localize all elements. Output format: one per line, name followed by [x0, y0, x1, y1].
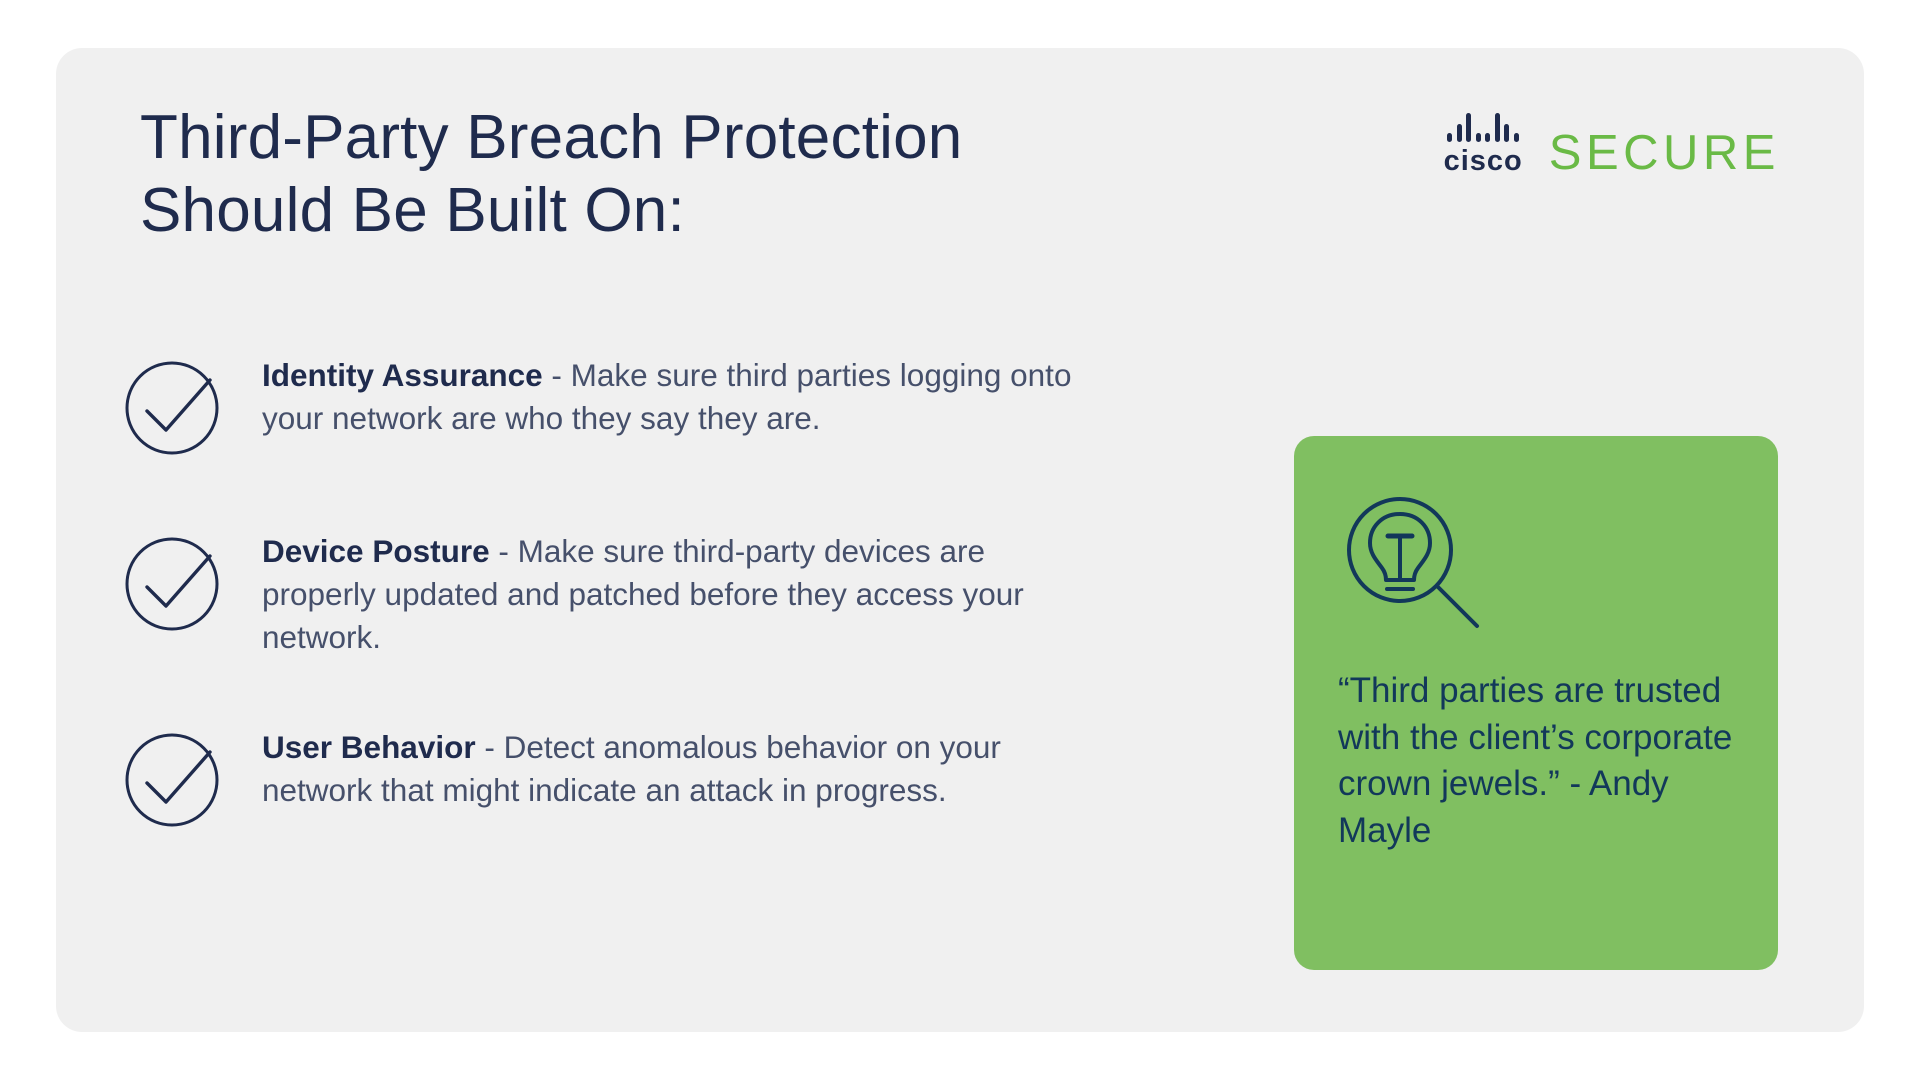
check-circle-icon: [116, 722, 228, 834]
cisco-wordmark: cisco: [1444, 147, 1523, 176]
list-item-separator: -: [490, 533, 518, 569]
list-item: Device Posture - Make sure third-party d…: [116, 516, 1076, 658]
list-item-separator: -: [476, 729, 504, 765]
list-item-lead: User Behavior: [262, 729, 476, 765]
check-circle-icon: [116, 350, 228, 462]
check-circle-icon: [116, 526, 228, 638]
secure-wordmark: SECURE: [1549, 129, 1780, 178]
quote-text: “Third parties are trusted with the clie…: [1338, 668, 1734, 854]
brand-lockup: cisco SECURE: [1444, 112, 1780, 176]
cisco-logo: cisco: [1444, 112, 1523, 176]
list-item-lead: Identity Assurance: [262, 357, 543, 393]
header: Third-Party Breach Protection Should Be …: [56, 48, 1864, 308]
list-item-text: Device Posture - Make sure third-party d…: [262, 516, 1076, 658]
checklist: Identity Assurance - Make sure third par…: [116, 340, 1076, 834]
list-item: Identity Assurance - Make sure third par…: [116, 340, 1076, 462]
list-item-text: User Behavior - Detect anomalous behavio…: [262, 712, 1076, 812]
page-title: Third-Party Breach Protection Should Be …: [140, 102, 1190, 247]
list-item-text: Identity Assurance - Make sure third par…: [262, 340, 1076, 440]
infographic-canvas: Third-Party Breach Protection Should Be …: [0, 0, 1920, 1080]
list-item-separator: -: [543, 357, 571, 393]
list-item: User Behavior - Detect anomalous behavio…: [116, 712, 1076, 834]
list-item-lead: Device Posture: [262, 533, 490, 569]
content-panel: Third-Party Breach Protection Should Be …: [56, 48, 1864, 1032]
lightbulb-magnifier-icon: [1338, 488, 1488, 638]
quote-card: “Third parties are trusted with the clie…: [1294, 436, 1778, 970]
cisco-bridge-icon: [1447, 112, 1519, 142]
